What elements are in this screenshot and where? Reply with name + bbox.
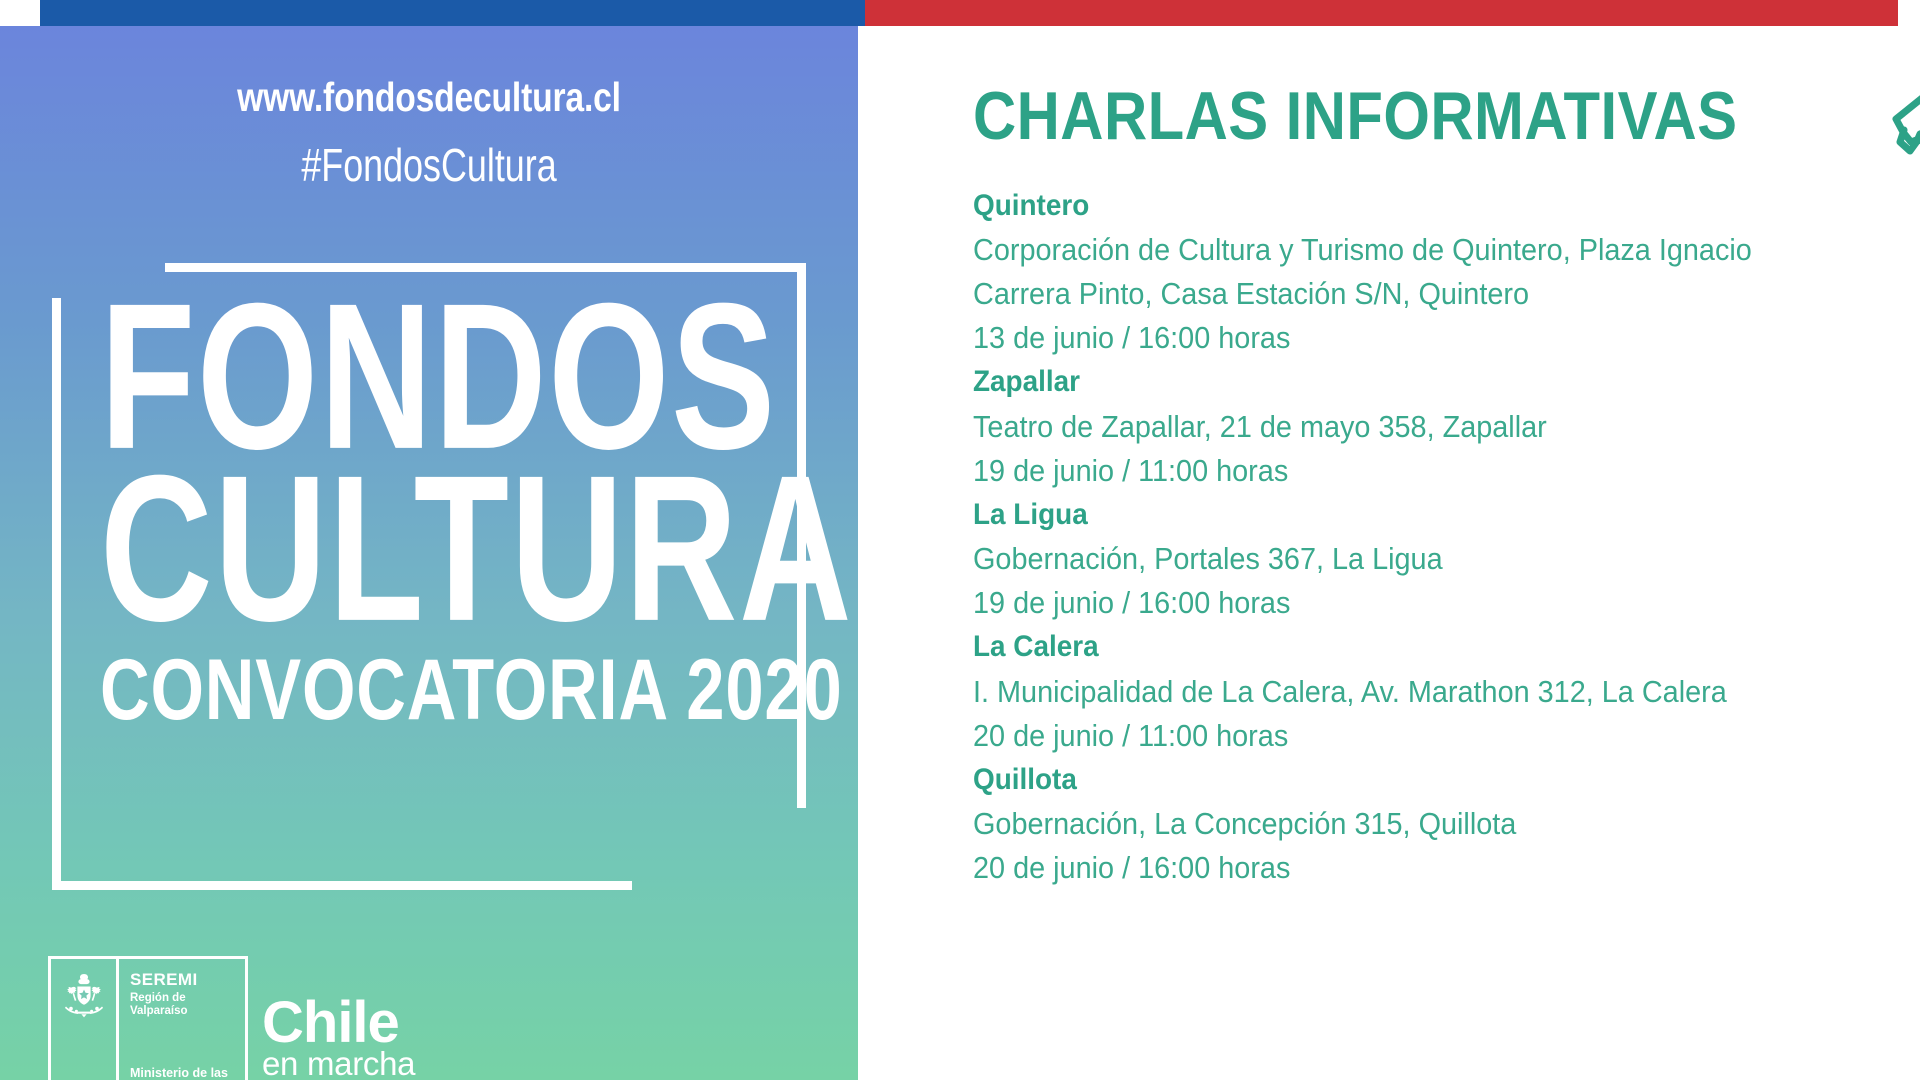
talks-list: QuinteroCorporación de Cultura y Turismo…	[973, 184, 1873, 890]
talk-detail-line: Teatro de Zapallar, 21 de mayo 358, Zapa…	[973, 405, 1810, 449]
logo-line-convocatoria: CONVOCATORIA 2020	[100, 656, 628, 725]
chile-wordmark: Chile	[262, 996, 415, 1049]
talk-city-name: Quintero	[973, 184, 1810, 228]
talk-detail-line: 20 de junio / 16:00 horas	[973, 846, 1810, 890]
left-gradient-panel: www.fondosdecultura.cl #FondosCultura FO…	[0, 26, 858, 1080]
ministry-text-block: SEREMI Región de Valparaíso Ministerio d…	[119, 959, 245, 1080]
talk-detail-line: Gobernación, Portales 367, La Ligua	[973, 537, 1810, 581]
chile-coat-of-arms-icon	[51, 959, 119, 1080]
website-url: www.fondosdecultura.cl	[77, 74, 781, 121]
frame-line-bottom	[52, 881, 632, 890]
frame-line-left	[52, 298, 61, 890]
talk-city-name: La Calera	[973, 625, 1810, 669]
hashtag: #FondosCultura	[94, 138, 763, 192]
talk-detail-line: Gobernación, La Concepción 315, Quillota	[973, 802, 1810, 846]
talk-city-name: La Ligua	[973, 493, 1810, 537]
talk-city-name: Zapallar	[973, 360, 1810, 404]
page-title: CHARLAS INFORMATIVAS	[973, 82, 1738, 150]
talk-detail-line: 19 de junio / 16:00 horas	[973, 581, 1810, 625]
region-label: Región de Valparaíso	[130, 992, 237, 1017]
topbar-red-band	[865, 0, 1898, 26]
megaphone-icon	[1884, 70, 1920, 162]
talk-detail-line: Corporación de Cultura y Turismo de Quin…	[973, 228, 1810, 272]
ministry-name: Ministerio de las Culturas, las Artes y …	[130, 1066, 240, 1080]
seremi-label: SEREMI	[130, 971, 237, 988]
talk-detail-line: 20 de junio / 11:00 horas	[973, 714, 1810, 758]
talk-detail-line: 19 de junio / 11:00 horas	[973, 449, 1810, 493]
poster-canvas: www.fondosdecultura.cl #FondosCultura FO…	[0, 0, 1920, 1080]
en-marcha-tagline: en marcha	[262, 1047, 415, 1080]
talk-detail-line: Carrera Pinto, Casa Estación S/N, Quinte…	[973, 272, 1810, 316]
logo-line-cultura: CULTURA	[100, 466, 615, 632]
talk-detail-line: 13 de junio / 16:00 horas	[973, 316, 1810, 360]
chile-en-marcha-logo: Chile en marcha	[262, 996, 415, 1080]
talk-detail-line: I. Municipalidad de La Calera, Av. Marat…	[973, 670, 1810, 714]
section-header: CHARLAS INFORMATIVAS	[973, 70, 1920, 162]
ministry-logo-block: SEREMI Región de Valparaíso Ministerio d…	[48, 956, 248, 1080]
fondos-cultura-logo: FONDOS CULTURA CONVOCATORIA 2020	[100, 294, 760, 725]
right-content-panel: CHARLAS INFORMATIVAS QuinteroCorporación…	[858, 26, 1920, 1080]
talk-city-name: Quillota	[973, 758, 1810, 802]
topbar-blue-band	[40, 0, 865, 26]
